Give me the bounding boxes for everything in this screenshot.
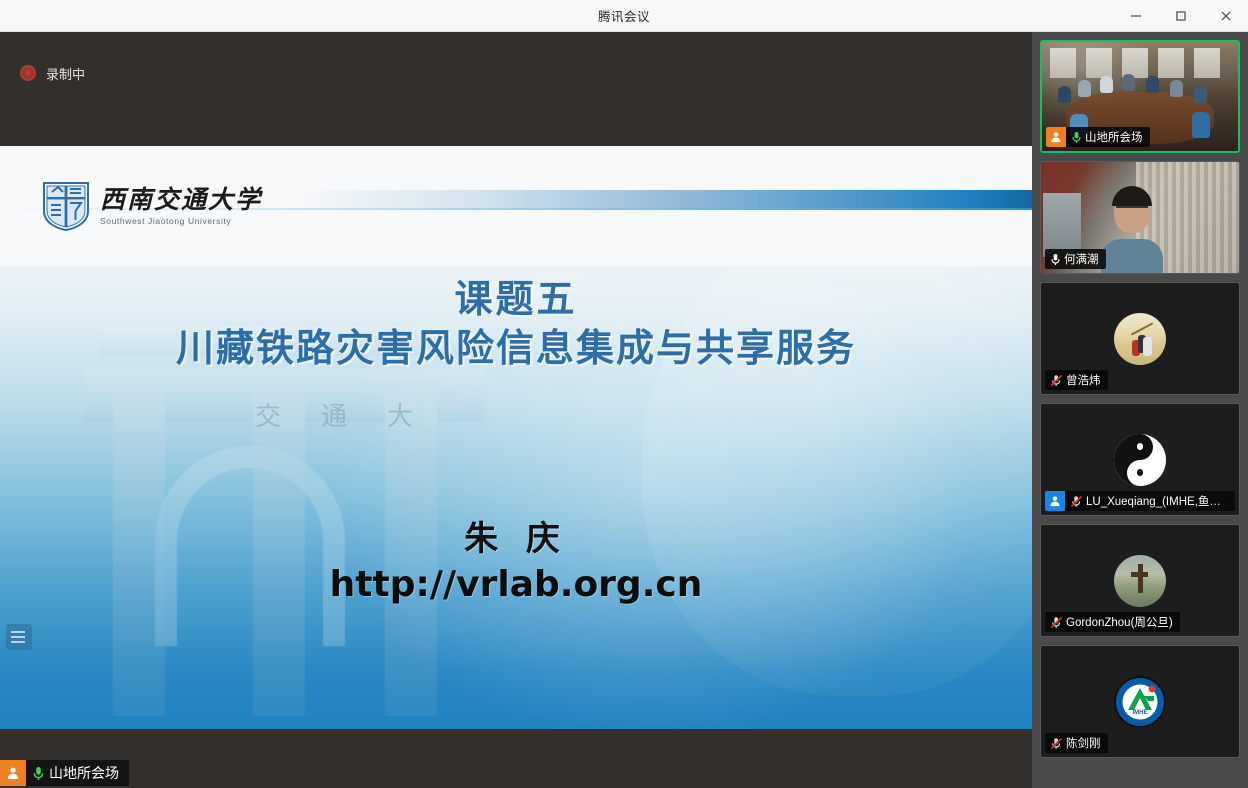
- participant-tile-hemanchao[interactable]: 何满潮: [1040, 161, 1240, 274]
- mic-muted-glyph: [1050, 737, 1063, 750]
- imhe-logo-icon: IMHE: [1114, 676, 1166, 728]
- record-icon: [20, 65, 36, 81]
- mic-muted-glyph: [1050, 616, 1063, 629]
- participant-avatar: [1114, 313, 1166, 365]
- slide-url: http://vrlab.org.cn: [0, 564, 1032, 605]
- host-badge-icon: [0, 760, 26, 786]
- person-icon: [6, 766, 20, 780]
- mic-muted-icon: [1050, 374, 1063, 387]
- window-titlebar: 腾讯会议: [0, 0, 1248, 32]
- participant-name: 山地所会场: [1085, 129, 1150, 145]
- mic-muted-glyph: [1070, 495, 1083, 508]
- participant-label: 山地所会场: [1046, 127, 1150, 147]
- minimize-button[interactable]: [1113, 0, 1158, 32]
- slide-title-block: 课题五 川藏铁路灾害风险信息集成与共享服务: [0, 276, 1032, 373]
- mic-muted-glyph: [1050, 374, 1063, 387]
- participant-name: GordonZhou(周公旦): [1066, 614, 1180, 630]
- self-name-label: 山地所会场: [49, 763, 129, 783]
- recording-label: 录制中: [46, 64, 85, 83]
- slide-header: 西南交通大学 Southwest Jiaotong University: [0, 146, 1032, 266]
- slide-title-line-2: 川藏铁路灾害风险信息集成与共享服务: [0, 324, 1032, 373]
- mic-glyph: [1050, 253, 1061, 266]
- mic-muted-icon: [1050, 616, 1063, 629]
- university-name-en: Southwest Jiaotong University: [100, 217, 262, 226]
- minimize-icon: [1130, 10, 1142, 22]
- participant-tile-zenghaowei[interactable]: 曾浩炜: [1040, 282, 1240, 395]
- mic-glyph: [32, 766, 45, 781]
- arch-glyph-1: 交: [255, 396, 281, 436]
- participant-label: 陈剑刚: [1045, 733, 1108, 753]
- participant-rail[interactable]: 山地所会场 何满潮: [1032, 32, 1248, 788]
- participant-tile-gordonzhou[interactable]: GordonZhou(周公旦): [1040, 524, 1240, 637]
- mic-on-icon: [1071, 131, 1082, 144]
- participant-name: 曾浩炜: [1066, 372, 1108, 388]
- person-badge-icon: [1045, 491, 1065, 511]
- slide-presenter-name: 朱 庆: [0, 511, 1032, 560]
- participant-avatar: [1114, 434, 1166, 486]
- window-title: 腾讯会议: [598, 6, 650, 25]
- participant-avatar: [1114, 555, 1166, 607]
- participant-name: 何满潮: [1064, 251, 1106, 267]
- close-icon: [1220, 10, 1232, 22]
- archway-inscription: 交 通 大: [255, 396, 485, 436]
- participant-avatar: IMHE: [1114, 676, 1166, 728]
- svg-text:IMHE: IMHE: [1133, 710, 1148, 716]
- mic-glyph: [1071, 131, 1082, 144]
- maximize-icon: [1175, 10, 1187, 22]
- participant-label: LU_Xueqiang_(IMHE,鱼学…: [1045, 491, 1235, 511]
- shared-slide: 交 通 大: [0, 146, 1032, 729]
- participant-tile-lu-xueqiang[interactable]: LU_Xueqiang_(IMHE,鱼学…: [1040, 403, 1240, 516]
- mic-on-icon: [32, 766, 45, 781]
- close-button[interactable]: [1203, 0, 1248, 32]
- person-icon: [1049, 495, 1061, 507]
- shared-screen-stage[interactable]: 录制中 交 通 大: [0, 32, 1032, 788]
- participant-label: GordonZhou(周公旦): [1045, 612, 1180, 632]
- mic-muted-icon: [1070, 495, 1083, 508]
- slide-title-line-1: 课题五: [0, 276, 1032, 324]
- participant-name: LU_Xueqiang_(IMHE,鱼学…: [1086, 493, 1235, 509]
- self-name-overlay: 山地所会场: [0, 760, 129, 786]
- participant-tile-chenjiangang[interactable]: IMHE 陈剑刚: [1040, 645, 1240, 758]
- arch-glyph-2: 通: [321, 396, 347, 436]
- person-icon: [1050, 131, 1062, 143]
- window-controls: [1113, 0, 1248, 32]
- mic-muted-icon: [1050, 737, 1063, 750]
- meeting-body: 录制中 交 通 大: [0, 32, 1248, 788]
- participant-tile-shandisuo[interactable]: 山地所会场: [1040, 40, 1240, 153]
- maximize-button[interactable]: [1158, 0, 1203, 32]
- list-icon[interactable]: [6, 624, 32, 650]
- recording-indicator: 录制中: [0, 32, 1032, 114]
- university-logo: 西南交通大学 Southwest Jiaotong University: [42, 180, 262, 232]
- participant-label: 何满潮: [1045, 249, 1106, 269]
- slide-header-accent-bar: [300, 190, 1032, 208]
- arch-glyph-3: 大: [387, 396, 413, 436]
- mic-on-icon: [1050, 253, 1061, 266]
- participant-name: 陈剑刚: [1066, 735, 1108, 751]
- participant-label: 曾浩炜: [1045, 370, 1108, 390]
- university-name-cn: 西南交通大学: [100, 187, 262, 212]
- shield-icon: [42, 180, 90, 232]
- host-badge-icon: [1046, 127, 1066, 147]
